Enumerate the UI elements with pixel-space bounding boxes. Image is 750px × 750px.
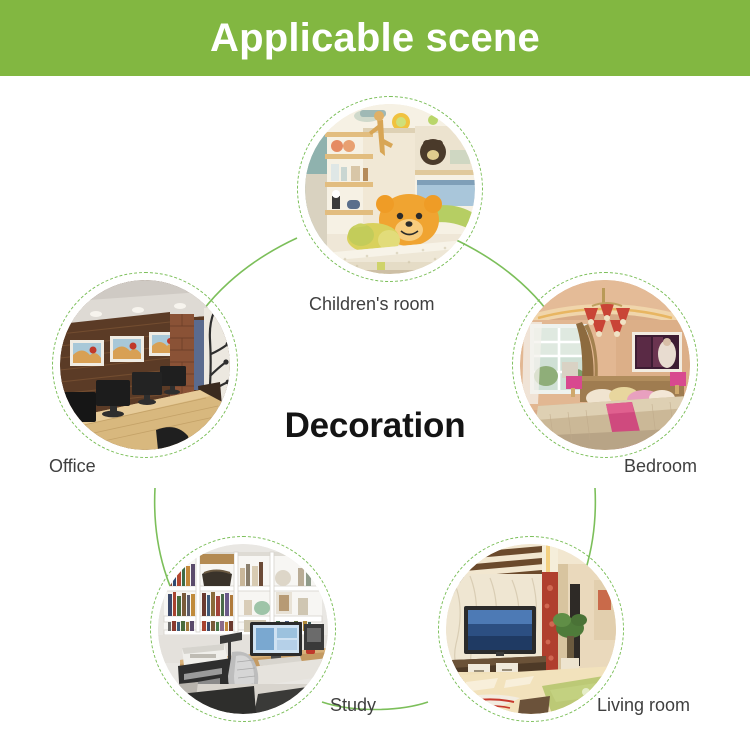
study-photo [158,544,328,714]
label-children-room: Children's room [309,295,434,313]
children-room-photo [305,104,475,274]
label-living-room: Living room [597,696,690,714]
center-label: Decoration [0,406,750,446]
node-study[interactable] [150,536,336,722]
page-title: Applicable scene [210,18,540,58]
label-bedroom: Bedroom [624,457,697,475]
applicable-scene-page: Applicable scene [0,0,750,750]
scene-diagram: Children's room [0,76,750,750]
label-office: Office [49,457,96,475]
node-children-room[interactable] [297,96,483,282]
label-study: Study [330,696,376,714]
living-room-photo [446,544,616,714]
header-bar: Applicable scene [0,0,750,76]
